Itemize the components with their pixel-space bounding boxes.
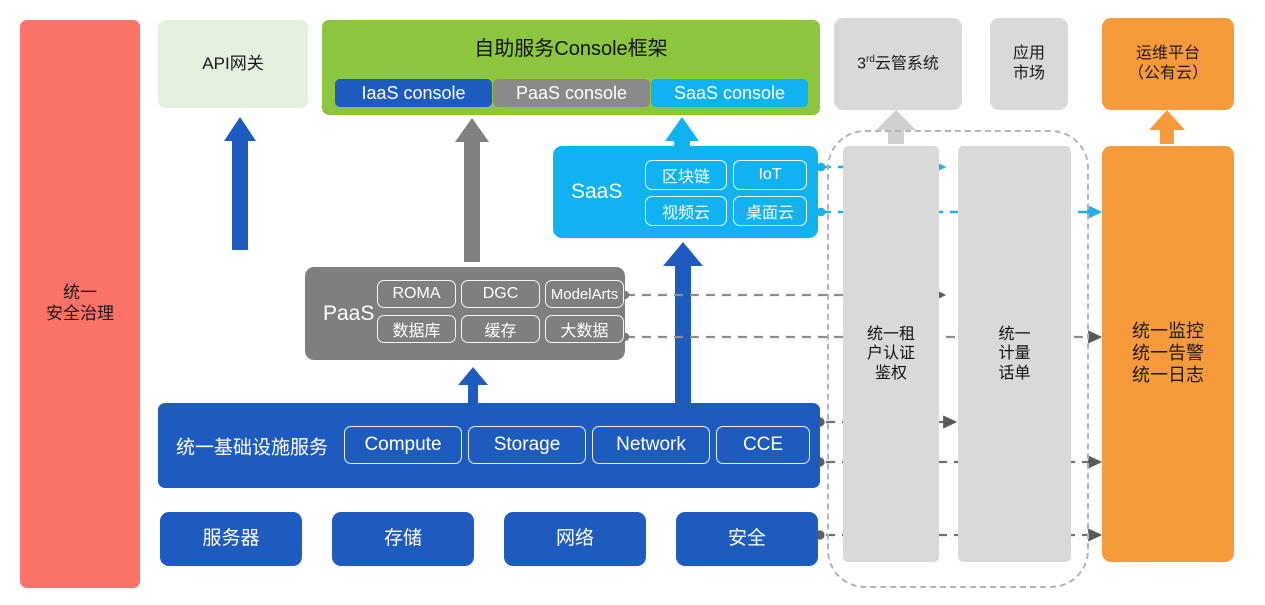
iaas-console-chip[interactable]: IaaS console: [335, 79, 492, 107]
arrow-ops-platform-up: [1149, 110, 1185, 144]
tenant-auth-line-3: 鉴权: [875, 365, 907, 382]
paas-panel-label: PaaS: [323, 302, 374, 326]
saas-panel-label: SaaS: [571, 180, 622, 204]
paas-console-chip[interactable]: PaaS console: [493, 79, 650, 107]
unified-monitoring-panel[interactable]: 统一监控 统一告警 统一日志: [1102, 146, 1234, 562]
arrow-infra-to-saas-up: [663, 242, 703, 404]
metering-line-2: 计量: [998, 345, 1030, 362]
infra-item-network-label: Network: [616, 434, 686, 456]
paas-item-roma[interactable]: ROMA: [377, 280, 456, 308]
ops-platform-line-2: （公有云）: [1128, 65, 1208, 82]
infra-item-compute[interactable]: Compute: [344, 426, 462, 464]
ops-platform-line-1: 运维平台: [1136, 45, 1200, 62]
infra-item-cce-label: CCE: [743, 434, 783, 456]
unified-metering-billing-column[interactable]: 统一 计量 话单: [958, 146, 1071, 562]
unified-infrastructure-bar[interactable]: 统一基础设施服务 Compute Storage Network CCE: [158, 403, 820, 488]
saas-item-iot[interactable]: IoT: [733, 160, 807, 190]
console-framework-title: 自助服务Console框架: [322, 32, 820, 61]
api-gateway-box[interactable]: API网关: [158, 20, 308, 108]
paas-item-bigdata-label: 大数据: [560, 317, 608, 341]
security-governance-panel[interactable]: 统一 安全治理: [20, 20, 140, 588]
security-governance-label: 统一 安全治理: [46, 283, 114, 324]
paas-item-dgc[interactable]: DGC: [461, 280, 540, 308]
saas-item-blockchain-label: 区块链: [662, 163, 710, 187]
app-market-label: 应用 市场: [1013, 44, 1045, 83]
monitoring-line-3: 统一日志: [1132, 365, 1204, 385]
paas-item-database[interactable]: 数据库: [377, 315, 456, 343]
unified-tenant-auth-label: 统一租 户认证 鉴权: [867, 325, 915, 384]
resource-storage-label: 存储: [384, 527, 422, 550]
saas-console-chip[interactable]: SaaS console: [651, 79, 808, 107]
ops-platform-public-cloud-box[interactable]: 运维平台 （公有云）: [1102, 18, 1234, 110]
metering-line-1: 统一: [998, 326, 1030, 343]
iaas-console-label: IaaS console: [361, 83, 465, 104]
infra-item-storage-label: Storage: [494, 434, 561, 456]
tenant-auth-line-1: 统一租: [867, 326, 915, 343]
resource-server-label: 服务器: [202, 527, 259, 550]
paas-panel[interactable]: PaaS ROMA DGC ModelArts 数据库 缓存 大数据: [305, 267, 625, 360]
saas-item-video-cloud-label: 视频云: [662, 199, 710, 223]
api-gateway-label: API网关: [202, 54, 263, 75]
saas-item-blockchain[interactable]: 区块链: [645, 160, 727, 190]
third-party-cloud-mgmt-box[interactable]: 3rd云管系统: [834, 18, 962, 110]
paas-item-cache[interactable]: 缓存: [461, 315, 540, 343]
resource-box-network[interactable]: 网络: [504, 512, 646, 566]
saas-item-desktop-cloud[interactable]: 桌面云: [733, 196, 807, 226]
third-party-prefix: 3: [857, 55, 866, 72]
resource-network-label: 网络: [556, 527, 594, 550]
metering-line-3: 话单: [998, 365, 1030, 382]
saas-panel[interactable]: SaaS 区块链 IoT 视频云 桌面云: [553, 146, 818, 238]
monitoring-line-2: 统一告警: [1132, 343, 1204, 363]
paas-item-cache-label: 缓存: [484, 317, 516, 341]
app-market-line-2: 市场: [1013, 65, 1045, 82]
resource-security-label: 安全: [728, 527, 766, 550]
unified-infrastructure-label: 统一基础设施服务: [176, 432, 328, 459]
arrow-saas-to-console-up: [665, 117, 699, 148]
paas-console-label: PaaS console: [516, 83, 627, 104]
monitoring-line-1: 统一监控: [1132, 321, 1204, 341]
saas-item-video-cloud[interactable]: 视频云: [645, 196, 727, 226]
third-party-cloud-mgmt-label: 3rd云管系统: [857, 54, 939, 74]
architecture-diagram: 统一 安全治理 API网关 自助服务Console框架 IaaS console…: [0, 0, 1265, 605]
third-party-suffix: 云管系统: [875, 55, 939, 72]
resource-box-security[interactable]: 安全: [676, 512, 818, 566]
paas-item-roma-label: ROMA: [393, 285, 441, 303]
paas-item-database-label: 数据库: [392, 317, 440, 341]
infra-item-cce[interactable]: CCE: [716, 426, 810, 464]
resource-box-server[interactable]: 服务器: [160, 512, 302, 566]
app-market-line-1: 应用: [1013, 45, 1045, 62]
arrow-apigw-up: [224, 117, 256, 250]
paas-item-bigdata[interactable]: 大数据: [545, 315, 624, 343]
console-framework-panel[interactable]: 自助服务Console框架 IaaS console PaaS console …: [322, 20, 820, 115]
tenant-auth-line-2: 户认证: [867, 345, 915, 362]
paas-item-modelarts-label: ModelArts: [551, 286, 619, 303]
infra-item-network[interactable]: Network: [592, 426, 710, 464]
infra-item-compute-label: Compute: [364, 434, 441, 456]
ops-platform-public-cloud-label: 运维平台 （公有云）: [1128, 44, 1208, 83]
unified-monitoring-label: 统一监控 统一告警 统一日志: [1132, 321, 1204, 387]
app-market-box[interactable]: 应用 市场: [990, 18, 1068, 110]
third-party-superscript: rd: [866, 54, 875, 65]
unified-metering-billing-label: 统一 计量 话单: [998, 325, 1030, 384]
paas-item-modelarts[interactable]: ModelArts: [545, 280, 624, 308]
arrow-paas-to-console-up: [455, 118, 489, 262]
resource-box-storage[interactable]: 存储: [332, 512, 474, 566]
paas-item-dgc-label: DGC: [483, 285, 519, 303]
saas-console-label: SaaS console: [674, 83, 785, 104]
infra-item-storage[interactable]: Storage: [468, 426, 586, 464]
saas-item-iot-label: IoT: [758, 166, 781, 184]
arrow-infra-to-paas-up: [458, 367, 488, 404]
unified-tenant-auth-column[interactable]: 统一租 户认证 鉴权: [843, 146, 939, 562]
saas-item-desktop-cloud-label: 桌面云: [746, 199, 794, 223]
